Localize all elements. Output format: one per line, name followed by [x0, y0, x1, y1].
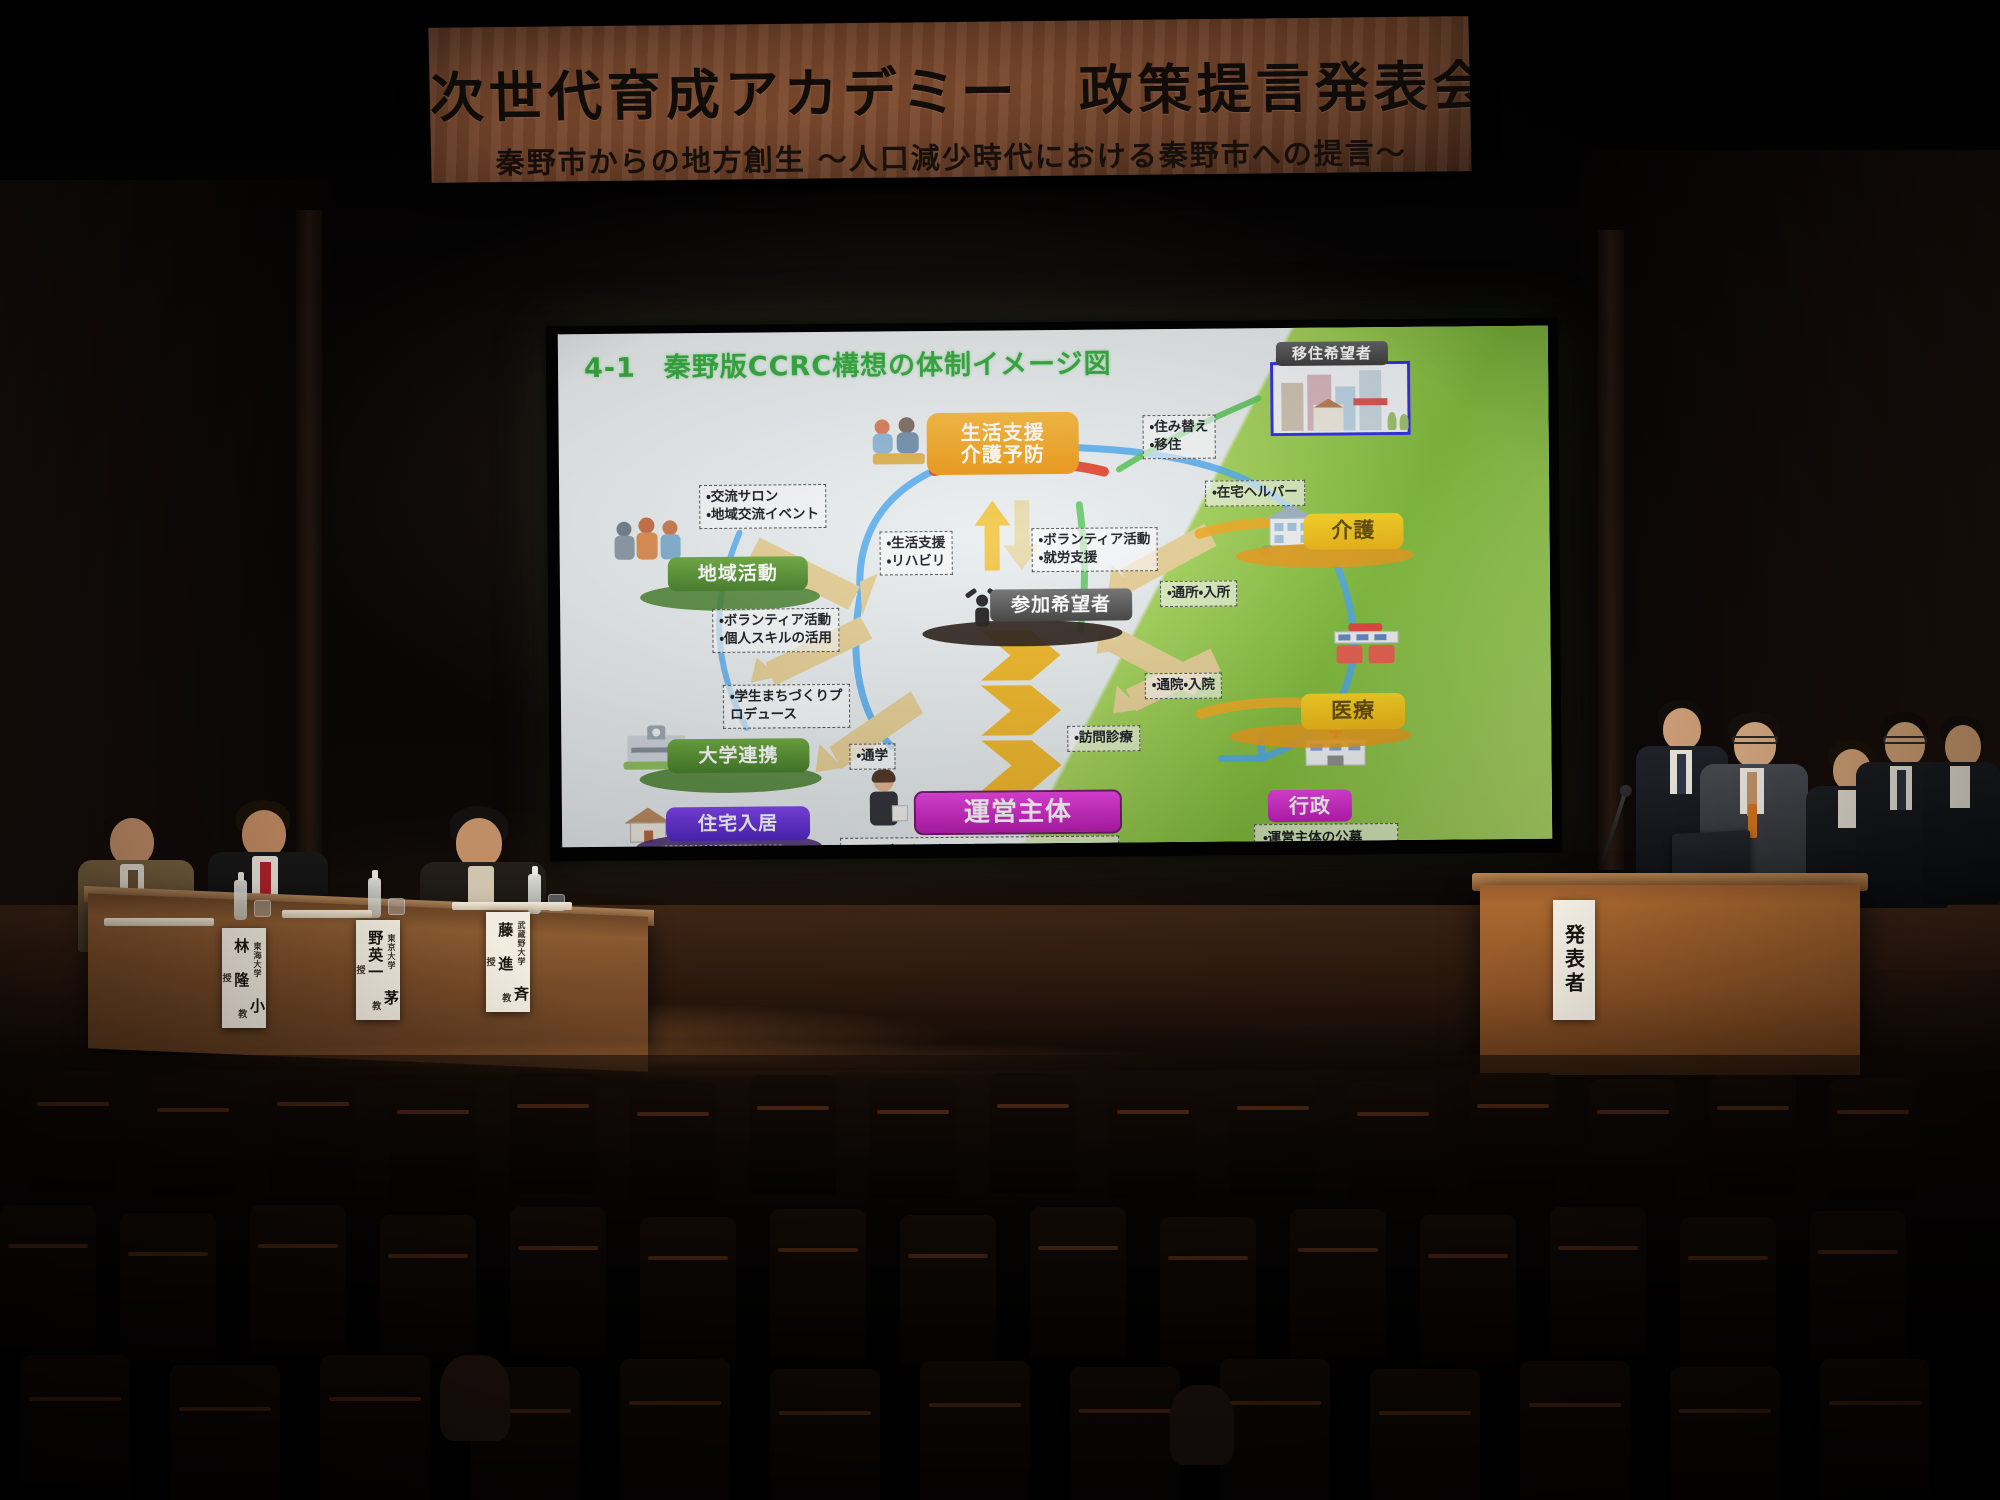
- presenter-podium: [1480, 885, 1860, 1075]
- podium-sign: 発表者: [1553, 900, 1595, 1020]
- panel-papers-1: [104, 918, 214, 926]
- unei-item-0: ・コーディネーターを配置: [849, 842, 1110, 848]
- node-kaigo[interactable]: 介護: [1303, 513, 1403, 550]
- note-volunteer-skill: ・ボランティア活動 ・個人スキルの活用: [712, 608, 839, 653]
- note-tsusho-nyusho: ・通所・入所: [1160, 580, 1237, 606]
- water-glass-1: [254, 900, 271, 917]
- note-tsuin-nyuin: ・通院・入院: [1145, 673, 1222, 699]
- clipart-coordinator: [862, 771, 909, 841]
- clipart-elderly-pair: [872, 417, 930, 470]
- water-bottle-1: [234, 880, 247, 920]
- audience-member-head: [440, 1355, 510, 1441]
- node-participant[interactable]: 参加希望者: [990, 588, 1132, 621]
- node-unei-shutai[interactable]: 運営主体: [914, 789, 1122, 835]
- note-sumikae-iju: ・住み替え ・移住: [1142, 415, 1215, 459]
- nameplate-3: 武蔵野大学 斉藤 進 教授: [486, 912, 530, 1012]
- node-seikatsu-shien[interactable]: 生活支援 介護予防: [926, 412, 1079, 475]
- clipart-clinic: [1330, 623, 1402, 672]
- note-seikatsu-rehab: ・生活支援 ・リハビリ: [879, 531, 952, 575]
- node-iju-kibousha[interactable]: 移住希望者: [1276, 341, 1388, 366]
- panel-papers-2: [282, 910, 372, 918]
- node-gyosei[interactable]: 行政: [1268, 789, 1352, 822]
- nameplate-1: 東海大学 小林 隆 教授: [222, 928, 266, 1028]
- stage-pillar-right: [1598, 230, 1624, 870]
- node-jutaku-nyukyo[interactable]: 住宅入居: [666, 806, 810, 841]
- slide-ccrc-diagram: 4-1 秦野版CCRC構想の体制イメージ図: [558, 326, 1552, 848]
- gyosei-detail-box: ・運営主体の公募 ・財源の確保 ・運営主体の後方支援: [1254, 823, 1399, 847]
- nameplate-2: 東京大学 茅野英一 教授: [356, 920, 400, 1020]
- note-zaitaku-helper: ・在宅ヘルパー: [1205, 480, 1305, 507]
- clipart-city-relocation: [1270, 361, 1411, 436]
- unei-shutai-detail-box: ・コーディネーターを配置 ・福祉機関とのサービスの調整 ・団体や大学との連携、地…: [840, 835, 1120, 847]
- node-daigaku-renkei[interactable]: 大学連携: [667, 738, 809, 773]
- event-banner: 次世代育成アカデミー 政策提言発表会 秦野市からの地方創生 ～人口減少時代におけ…: [428, 16, 1471, 183]
- node-chiiki-katsudo[interactable]: 地域活動: [668, 556, 808, 591]
- note-akiya: 空き家を活用した 安価での入居: [662, 844, 784, 847]
- note-gakusei-machizukuri: ・学生まちづくりプ ロデュース: [723, 684, 850, 729]
- gyosei-item-0: ・運営主体の公募: [1263, 829, 1389, 847]
- nameplate-3-affiliation: 武蔵野大学: [517, 921, 526, 966]
- note-koryu-salon: ・交流サロン ・地域交流イベント: [699, 484, 826, 529]
- note-volunteer-shuro: ・ボランティア活動 ・就労支援: [1031, 527, 1157, 572]
- note-homon-shinryo: ・訪問診療: [1067, 725, 1140, 751]
- audience-seating: [0, 1055, 2000, 1500]
- conference-hall-photo: 次世代育成アカデミー 政策提言発表会 秦野市からの地方創生 ～人口減少時代におけ…: [0, 0, 2000, 1500]
- projection-screen: 4-1 秦野版CCRC構想の体制イメージ図: [546, 318, 1563, 862]
- banner-title: 次世代育成アカデミー 政策提言発表会: [429, 42, 1471, 133]
- nameplate-2-affiliation: 東京大学: [387, 934, 396, 970]
- presenter-5: [1922, 716, 2000, 902]
- node-iryo[interactable]: 医療: [1301, 693, 1405, 730]
- note-tsugaku: ・通学: [849, 743, 895, 769]
- audience-member-head: [1170, 1385, 1234, 1465]
- panel-papers-3: [452, 902, 572, 910]
- water-glass-2: [388, 898, 405, 915]
- nameplate-1-affiliation: 東海大学: [253, 942, 262, 978]
